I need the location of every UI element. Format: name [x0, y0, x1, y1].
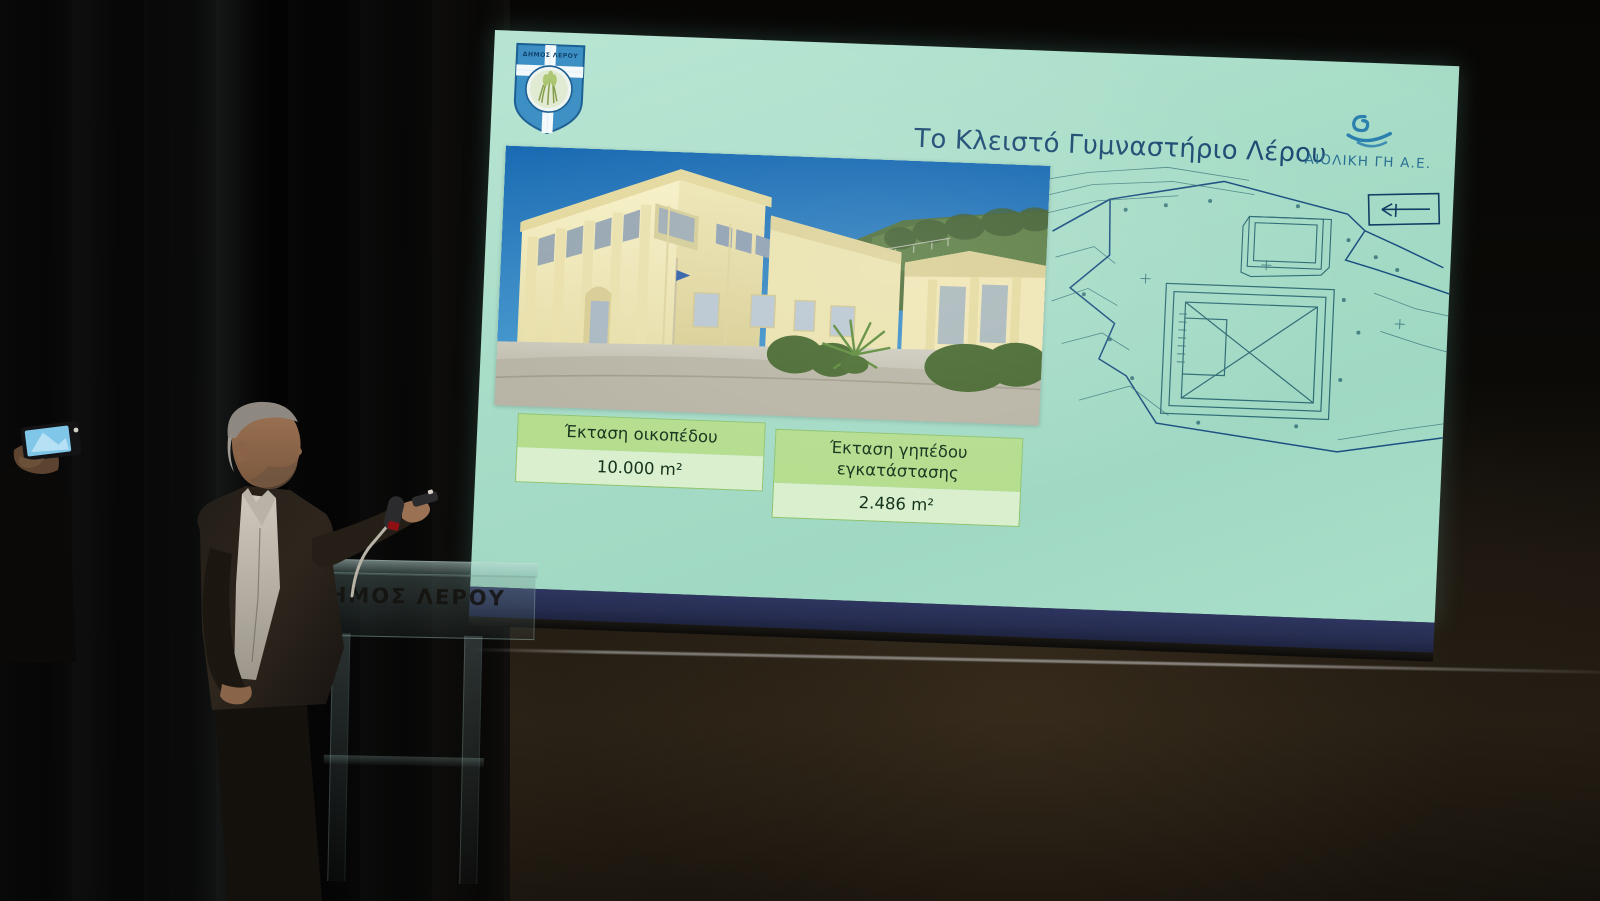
microphone	[330, 470, 440, 600]
projection-screen: ΔΗΜΟΣ ΛΕΡΟΥ Το Κλειστό Γυμναστήριο Λέρου…	[468, 30, 1459, 666]
auditorium-scene: ΔΗΜΟΣ ΛΕΡΟΥ Το Κλειστό Γυμναστήριο Λέρου…	[0, 0, 1600, 901]
presentation-slide: ΔΗΜΟΣ ΛΕΡΟΥ Το Κλειστό Γυμναστήριο Λέρου…	[470, 30, 1459, 623]
fact-plot-area: Έκταση οικοπέδου 10.000 m²	[515, 413, 766, 491]
fact-facility-area: Έκταση γηπέδου εγκατάστασης 2.486 m²	[772, 429, 1024, 527]
gymnasium-photo	[494, 145, 1050, 425]
site-plan-drawing	[1036, 161, 1454, 476]
audience-filmer	[0, 412, 120, 662]
company-name: ΑΙΟΛΙΚΗ ΓΗ Α.Ε.	[1299, 151, 1438, 172]
wave-swirl-icon	[1333, 110, 1405, 155]
crest-dimos-lerou-icon: ΔΗΜΟΣ ΛΕΡΟΥ	[510, 40, 587, 138]
fact-facility-area-header: Έκταση γηπέδου εγκατάστασης	[774, 430, 1022, 492]
